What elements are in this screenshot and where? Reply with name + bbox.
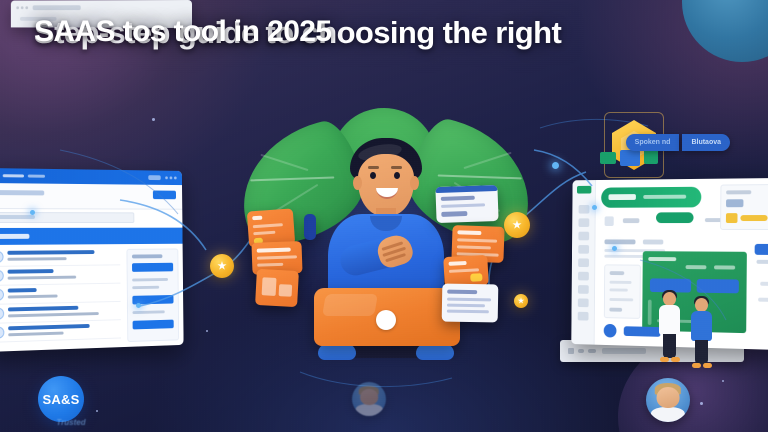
breadcrumb [0, 190, 44, 195]
card-line [457, 238, 497, 242]
card-line [253, 223, 283, 228]
panel-stat [714, 265, 735, 269]
person-head [358, 154, 414, 216]
card-line [609, 298, 633, 301]
row-subtitle [8, 312, 99, 317]
card-bar [262, 277, 277, 296]
figure-pharmacist [658, 292, 682, 364]
float-card-orange-3[interactable] [255, 269, 299, 307]
url-bar[interactable] [33, 5, 81, 10]
left-dashboard-mockup[interactable] [0, 168, 184, 352]
toolbar-icon[interactable] [148, 175, 161, 180]
card-badge-bar [740, 215, 767, 221]
figure-legs [695, 340, 708, 364]
avatar-face [657, 387, 680, 408]
network-node [552, 162, 559, 169]
right-action-button[interactable] [755, 244, 768, 255]
section-header-bar [0, 228, 183, 245]
speck-dot [152, 118, 155, 121]
float-card-orange-5[interactable] [443, 255, 489, 287]
widget-line [132, 310, 164, 314]
speck-dot [700, 402, 703, 405]
sidebar-item[interactable] [578, 298, 589, 307]
figure-head [695, 298, 708, 312]
section-title [0, 234, 29, 239]
dashboard-subheader [0, 183, 182, 210]
table-row[interactable] [0, 265, 120, 286]
card-line [610, 281, 632, 284]
card-line [609, 308, 622, 312]
sidebar-item[interactable] [578, 312, 589, 321]
saas-circle-badge[interactable]: SA&S [38, 376, 84, 422]
network-node [592, 205, 597, 210]
figure-coat [659, 305, 680, 335]
top-right-button-2[interactable]: Blutaova [682, 134, 730, 151]
detail-card[interactable] [604, 264, 641, 319]
window-controls[interactable] [16, 6, 28, 9]
widget-line [132, 278, 168, 281]
card-line [610, 288, 628, 291]
widget-button[interactable] [132, 263, 173, 272]
primary-action-button[interactable] [153, 191, 176, 200]
hero-banner: Step-step guide to choosing the right SA… [0, 0, 768, 432]
figure-shirt [691, 311, 712, 341]
card-line [252, 216, 262, 221]
card-line [610, 271, 625, 275]
card-line [449, 268, 479, 273]
panel-axis [648, 300, 652, 325]
figure-shoe [692, 363, 701, 368]
row-title [8, 324, 90, 330]
figure-shoe [671, 357, 680, 362]
nav-item[interactable] [28, 175, 45, 178]
hero-subtext [643, 195, 686, 199]
footer-label [602, 348, 646, 354]
right-label [758, 298, 768, 302]
sidebar-item[interactable] [579, 205, 590, 214]
row-title [7, 250, 94, 255]
leaf-vein [260, 154, 308, 171]
teal-orb-decoration [682, 0, 768, 62]
card-line [447, 298, 491, 302]
gold-coin-badge-left: ★ [210, 254, 234, 278]
sidebar-item[interactable] [578, 285, 589, 294]
card-line [257, 263, 283, 267]
row-subtitle [8, 332, 63, 337]
speck-dot [96, 410, 98, 412]
card-chip-icon [470, 273, 482, 282]
saas-badge-label: SA&S [43, 392, 80, 407]
laptop[interactable] [314, 288, 460, 346]
right-label [756, 260, 768, 264]
row-avatar-icon [0, 326, 4, 338]
speck-dot [722, 380, 724, 382]
sidebar-item[interactable] [578, 245, 589, 254]
person-shoe-left [318, 344, 356, 360]
card-line [457, 245, 491, 249]
person-brow [391, 166, 402, 169]
row-subtitle [7, 257, 66, 261]
footer-icon [578, 349, 584, 353]
avatar-body [651, 407, 685, 422]
person-brow [368, 166, 379, 169]
title-line-2: SAAS tos tool in 2025 [34, 12, 331, 52]
footer-icon [588, 349, 596, 353]
nav-item[interactable] [3, 174, 24, 177]
section-subheading [643, 240, 663, 245]
widget-line [132, 286, 159, 289]
leaf-vein [463, 152, 511, 169]
card-line [447, 290, 477, 295]
window-controls[interactable] [165, 176, 177, 179]
card-line [257, 255, 297, 259]
top-right-button-group[interactable]: Spoken nd Blutaova [626, 134, 730, 151]
widget-title [132, 254, 162, 258]
sidebar-item[interactable] [578, 272, 589, 281]
speck-dot [206, 330, 208, 332]
card-line [447, 304, 485, 308]
person-shoe-right [416, 344, 454, 360]
stat-icon [605, 216, 614, 226]
card-badge-icon [726, 213, 738, 223]
card-value [726, 199, 743, 207]
network-node [136, 303, 141, 308]
float-card-white-bottom[interactable] [442, 284, 499, 323]
side-widget-column [126, 248, 179, 342]
footer-button[interactable] [624, 326, 661, 337]
section-heading [604, 239, 635, 244]
card-line [441, 196, 475, 201]
card-line [448, 261, 466, 266]
summary-card[interactable] [720, 184, 768, 230]
card-line [441, 203, 485, 208]
person-eye [394, 172, 400, 179]
sidebar-item[interactable] [578, 218, 589, 227]
navy-card-sliver [304, 214, 316, 240]
person-ear [353, 176, 362, 190]
panel-stat [686, 265, 707, 269]
widget-button[interactable] [133, 320, 174, 330]
avatar-body [356, 404, 383, 416]
hero-label [608, 194, 635, 200]
blue-chip [620, 150, 640, 166]
row-avatar-icon [0, 251, 4, 263]
float-card-white-top[interactable] [435, 185, 498, 223]
fab-button[interactable] [604, 324, 617, 338]
top-right-button-1[interactable]: Spoken nd [626, 134, 680, 151]
row-avatar-icon [0, 270, 4, 282]
row-subtitle [8, 276, 77, 280]
card-title [726, 190, 751, 194]
person-illustration [320, 138, 452, 352]
table-row[interactable] [0, 320, 121, 343]
table-row[interactable] [0, 247, 120, 267]
avatar-right[interactable] [646, 378, 690, 422]
hero-banner-strip [601, 187, 701, 208]
figure-legs [663, 334, 676, 358]
gold-coin-badge-small: ★ [514, 294, 528, 308]
avatar-face [360, 389, 378, 405]
card-line [447, 310, 489, 314]
stat-value [623, 218, 640, 223]
right-label [760, 282, 768, 286]
green-chip [600, 152, 616, 164]
person-eye [370, 172, 376, 179]
row-avatar-icon [0, 289, 4, 301]
network-node [30, 210, 35, 215]
sidebar-item[interactable] [578, 258, 589, 267]
cta-pill-button[interactable] [656, 212, 694, 223]
row-title [8, 306, 78, 312]
panel-title [648, 257, 676, 261]
figure-head [663, 292, 676, 306]
figure-staff [690, 298, 714, 366]
panel-button[interactable] [697, 279, 739, 293]
card-line [253, 231, 275, 236]
search-placeholder-text [0, 215, 35, 219]
row-title [8, 269, 54, 274]
card-header-bar [435, 185, 497, 193]
figure-shoe [703, 363, 712, 368]
card-line [457, 230, 481, 235]
card-line [257, 248, 291, 253]
laptop-logo-icon [376, 310, 396, 330]
figure-shoe [660, 357, 669, 362]
row-subtitle [8, 295, 58, 299]
network-node [612, 246, 617, 251]
card-value [441, 211, 467, 217]
sidebar-logo-icon [577, 186, 591, 194]
sidebar-item[interactable] [578, 232, 589, 241]
row-avatar-icon [0, 308, 4, 320]
person-ear [410, 176, 419, 190]
saas-badge-caption: Trusted [28, 418, 114, 427]
footer-icon [568, 348, 574, 354]
avatar-center[interactable] [352, 382, 386, 416]
gold-coin-badge-right: ★ [504, 212, 530, 238]
row-title [8, 288, 37, 293]
card-bar [279, 284, 293, 297]
